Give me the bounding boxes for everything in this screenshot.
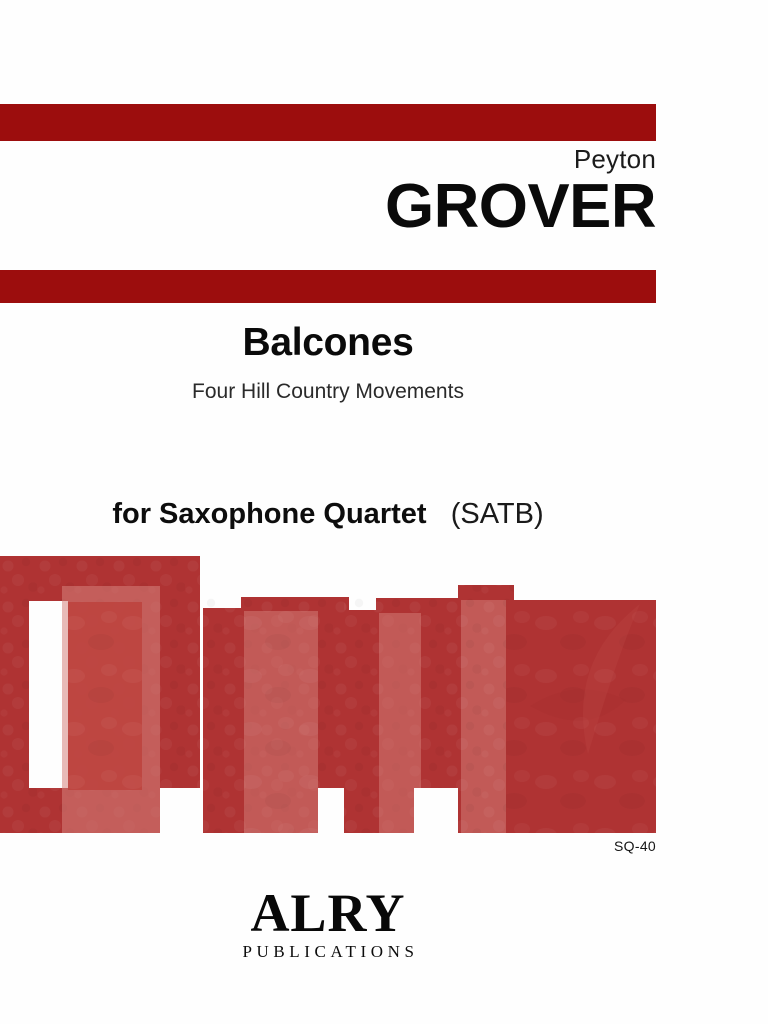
art-block-2-overlay-texture xyxy=(244,611,318,833)
art-block-3-gap xyxy=(318,788,344,833)
work-title: Balcones xyxy=(0,322,656,365)
composer-first-name: Peyton xyxy=(0,146,656,173)
title-block: Balcones Four Hill Country Movements xyxy=(0,322,656,404)
instrumentation-ensemble: for Saxophone Quartet xyxy=(112,498,426,530)
top-red-rule xyxy=(0,104,656,141)
composer-last-name: GROVER xyxy=(0,175,656,238)
instrumentation-line: for Saxophone Quartet (SATB) xyxy=(0,497,656,532)
art-block-1-inner-texture xyxy=(68,602,142,790)
publisher-logo: ALRY PUBLICATIONS xyxy=(0,888,656,960)
publisher-name: ALRY xyxy=(0,888,656,939)
composer-block: Peyton GROVER xyxy=(0,146,656,239)
catalogue-number: SQ-40 xyxy=(0,838,656,854)
abstract-blocks-graphic xyxy=(0,556,656,833)
cover-artwork xyxy=(0,556,656,833)
art-block-5-gap xyxy=(414,788,458,833)
instrumentation-voicing: (SATB) xyxy=(451,498,544,530)
publisher-tagline: PUBLICATIONS xyxy=(5,943,656,960)
sheet-music-cover: Peyton GROVER Balcones Four Hill Country… xyxy=(0,0,768,1024)
art-block-4-texture xyxy=(458,585,514,833)
middle-red-rule xyxy=(0,270,656,303)
art-block-2-gap xyxy=(160,788,203,833)
work-subtitle: Four Hill Country Movements xyxy=(0,379,656,404)
